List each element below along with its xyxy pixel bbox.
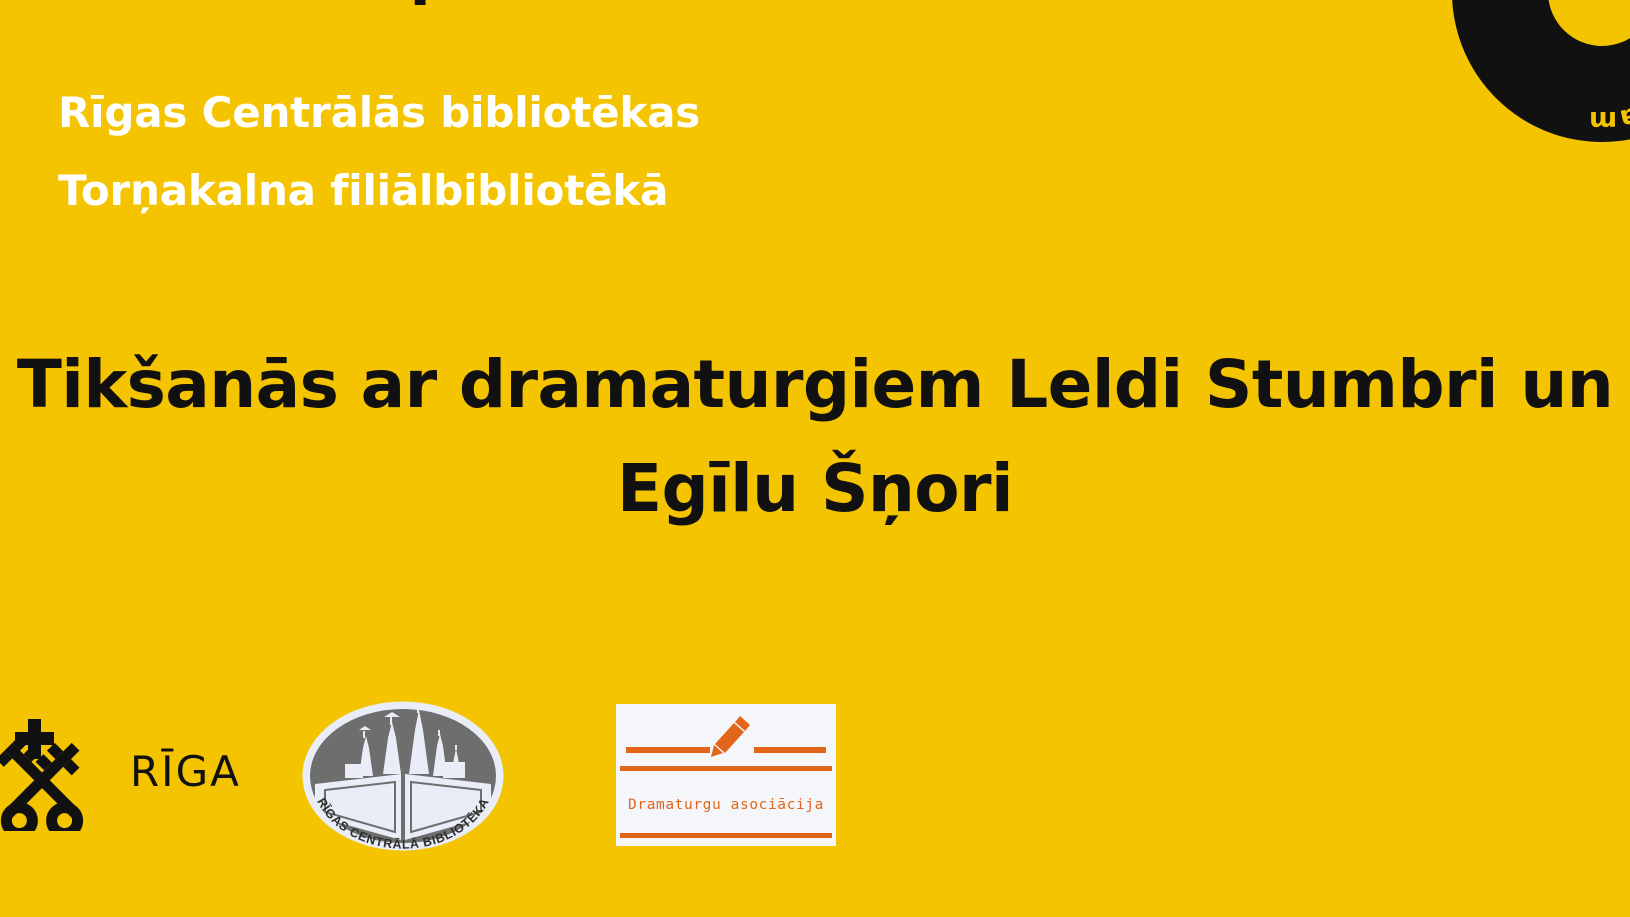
subtitle-block: Rīgas Centrālās bibliotēkas Torņakalna f… xyxy=(58,74,700,229)
poster-canvas: Literārais pasākums u gram Rīgas Centrāl… xyxy=(0,0,1630,917)
dramaturgs-association-logo: Dramaturgu asociācija xyxy=(616,704,836,846)
corner-badge-label: u gram xyxy=(1579,43,1630,165)
subtitle-line-2: Torņakalna filiālbibliotēkā xyxy=(58,152,700,230)
dramaturgs-logo-top xyxy=(616,704,836,766)
title-line-1: Tikšanās ar dramaturgiem Leldi Stumbri u… xyxy=(0,333,1630,437)
clipped-heading: Literārais pasākums xyxy=(58,0,1358,3)
crossed-keys-icon xyxy=(0,711,102,831)
riga-wordmark: RĪGA xyxy=(130,747,241,796)
library-seal-logo: RĪGAS CENTRĀLĀ BIBLIOTĒKA xyxy=(297,698,509,858)
dramaturgs-rule-left xyxy=(626,747,710,753)
dramaturgs-label: Dramaturgu asociācija xyxy=(616,771,836,813)
dramaturgs-bottom-rule xyxy=(620,833,832,838)
logo-strip: RĪGA xyxy=(0,693,1630,863)
riga-city-logo: RĪGA xyxy=(0,711,241,831)
corner-badge: u gram xyxy=(1416,0,1630,178)
subtitle-line-1: Rīgas Centrālās bibliotēkas xyxy=(58,74,700,152)
corner-badge-textpath: u gram xyxy=(1579,43,1630,165)
pencil-icon xyxy=(708,712,754,758)
page-title: Tikšanās ar dramaturgiem Leldi Stumbri u… xyxy=(0,333,1630,542)
title-line-2: Egīlu Šņori xyxy=(0,437,1630,541)
dramaturgs-rule-right xyxy=(754,747,826,753)
